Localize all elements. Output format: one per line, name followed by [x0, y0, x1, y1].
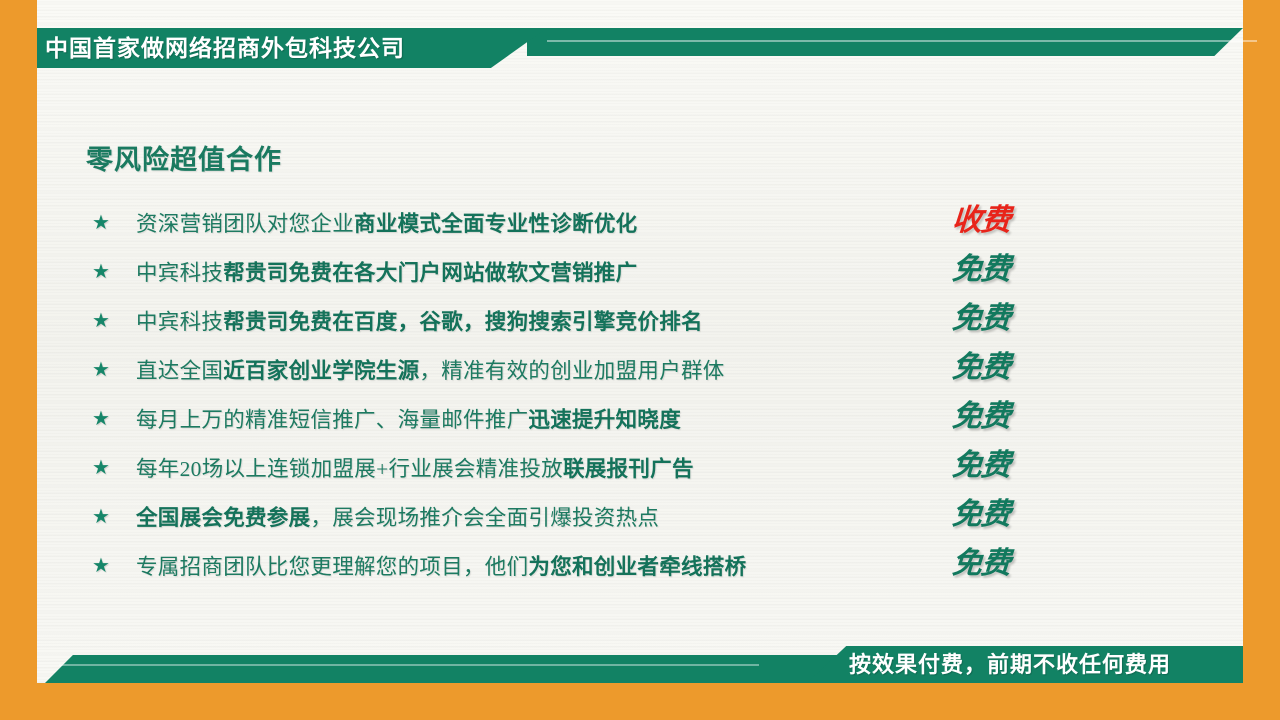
star-icon: ★ [92, 409, 118, 429]
list-item-text-emphasis: 迅速提升知晓度 [528, 408, 681, 432]
list-item-text-plain-trailing: ，精准有效的创业加盟用户群体 [419, 359, 724, 383]
page-title: 零风险超值合作 [86, 138, 282, 177]
list-item-text-emphasis: 全国展会免费参展 [136, 506, 310, 530]
bottom-banner-hairline [59, 664, 759, 666]
star-icon: ★ [92, 458, 118, 478]
list-item: ★全国展会免费参展，展会现场推介会全面引爆投资热点 [92, 492, 1092, 541]
list-item: ★中宾科技帮贵司免费在各大门户网站做软文营销推广 [92, 247, 1092, 296]
list-item: ★中宾科技帮贵司免费在百度，谷歌，搜狗搜索引擎竞价排名 [92, 296, 1092, 345]
list-item: ★每月上万的精准短信推广、海量邮件推广迅速提升知晓度 [92, 394, 1092, 443]
top-banner: 中国首家做网络招商外包科技公司 [37, 28, 1243, 68]
star-icon: ★ [92, 311, 118, 331]
status-badge: 免费 [951, 304, 1011, 334]
list-item: ★资深营销团队对您企业商业模式全面专业性诊断优化 [92, 198, 1092, 247]
list-item: ★每年20场以上连锁加盟展+行业展会精准投放联展报刊广告 [92, 443, 1092, 492]
list-item-text-plain-leading: 每年20场以上连锁加盟展+行业展会精准投放 [136, 457, 563, 481]
list-item-text-plain-leading: 中宾科技 [136, 261, 223, 285]
list-item-label: 每月上万的精准短信推广、海量邮件推广迅速提升知晓度 [136, 403, 681, 434]
top-banner-right-band [527, 28, 1243, 56]
star-icon: ★ [92, 360, 118, 380]
status-badge: 免费 [951, 451, 1011, 481]
list-item-label: 资深营销团队对您企业商业模式全面专业性诊断优化 [136, 207, 637, 238]
bottom-banner-text: 按效果付费，前期不收任何费用 [849, 646, 1171, 683]
bottom-banner: 按效果付费，前期不收任何费用 [37, 646, 1243, 683]
list-item-label: 直达全国近百家创业学院生源，精准有效的创业加盟用户群体 [136, 354, 725, 385]
list-item-text-emphasis: 联展报刊广告 [563, 457, 694, 481]
fee-row: 免费 [952, 441, 1072, 490]
fee-row: 免费 [952, 343, 1072, 392]
list-item-text-emphasis: 为您和创业者牵线搭桥 [528, 555, 746, 579]
fee-label-column: 收费免费免费免费免费免费免费免费 [952, 196, 1072, 588]
star-icon: ★ [92, 556, 118, 576]
star-icon: ★ [92, 262, 118, 282]
fee-row: 免费 [952, 245, 1072, 294]
fee-row: 免费 [952, 294, 1072, 343]
list-item: ★直达全国近百家创业学院生源，精准有效的创业加盟用户群体 [92, 345, 1092, 394]
fee-row: 收费 [952, 196, 1072, 245]
fee-row: 免费 [952, 539, 1072, 588]
list-item-text-emphasis: 近百家创业学院生源 [223, 359, 419, 383]
fee-row: 免费 [952, 490, 1072, 539]
list-item-label: 每年20场以上连锁加盟展+行业展会精准投放联展报刊广告 [136, 452, 694, 483]
star-icon: ★ [92, 507, 118, 527]
list-item: ★专属招商团队比您更理解您的项目，他们为您和创业者牵线搭桥 [92, 541, 1092, 590]
top-banner-title: 中国首家做网络招商外包科技公司 [45, 28, 405, 68]
star-icon: ★ [92, 213, 118, 233]
list-item-text-emphasis: 商业模式全面专业性诊断优化 [354, 212, 637, 236]
status-badge: 收费 [951, 206, 1011, 236]
status-badge: 免费 [951, 549, 1011, 579]
top-banner-hairline [547, 40, 1257, 42]
status-badge: 免费 [951, 255, 1011, 285]
list-item-text-emphasis: 帮贵司免费在各大门户网站做软文营销推广 [223, 261, 637, 285]
status-badge: 免费 [951, 500, 1011, 530]
status-badge: 免费 [951, 353, 1011, 383]
status-badge: 免费 [951, 402, 1011, 432]
list-item-text-emphasis: 帮贵司免费在百度，谷歌，搜狗搜索引擎竞价排名 [223, 310, 703, 334]
benefit-list: ★资深营销团队对您企业商业模式全面专业性诊断优化★中宾科技帮贵司免费在各大门户网… [92, 198, 1092, 590]
list-item-label: 专属招商团队比您更理解您的项目，他们为您和创业者牵线搭桥 [136, 550, 746, 581]
slide-root: 中国首家做网络招商外包科技公司 零风险超值合作 ★资深营销团队对您企业商业模式全… [0, 0, 1280, 720]
list-item-text-plain-leading: 直达全国 [136, 359, 223, 383]
list-item-text-plain-leading: 专属招商团队比您更理解您的项目，他们 [136, 555, 528, 579]
list-item-label: 全国展会免费参展，展会现场推介会全面引爆投资热点 [136, 501, 659, 532]
list-item-label: 中宾科技帮贵司免费在各大门户网站做软文营销推广 [136, 256, 637, 287]
list-item-text-plain-leading: 每月上万的精准短信推广、海量邮件推广 [136, 408, 528, 432]
fee-row: 免费 [952, 392, 1072, 441]
list-item-text-plain-leading: 中宾科技 [136, 310, 223, 334]
list-item-text-plain-leading: 资深营销团队对您企业 [136, 212, 354, 236]
list-item-label: 中宾科技帮贵司免费在百度，谷歌，搜狗搜索引擎竞价排名 [136, 305, 703, 336]
list-item-text-plain-trailing: ，展会现场推介会全面引爆投资热点 [310, 506, 659, 530]
